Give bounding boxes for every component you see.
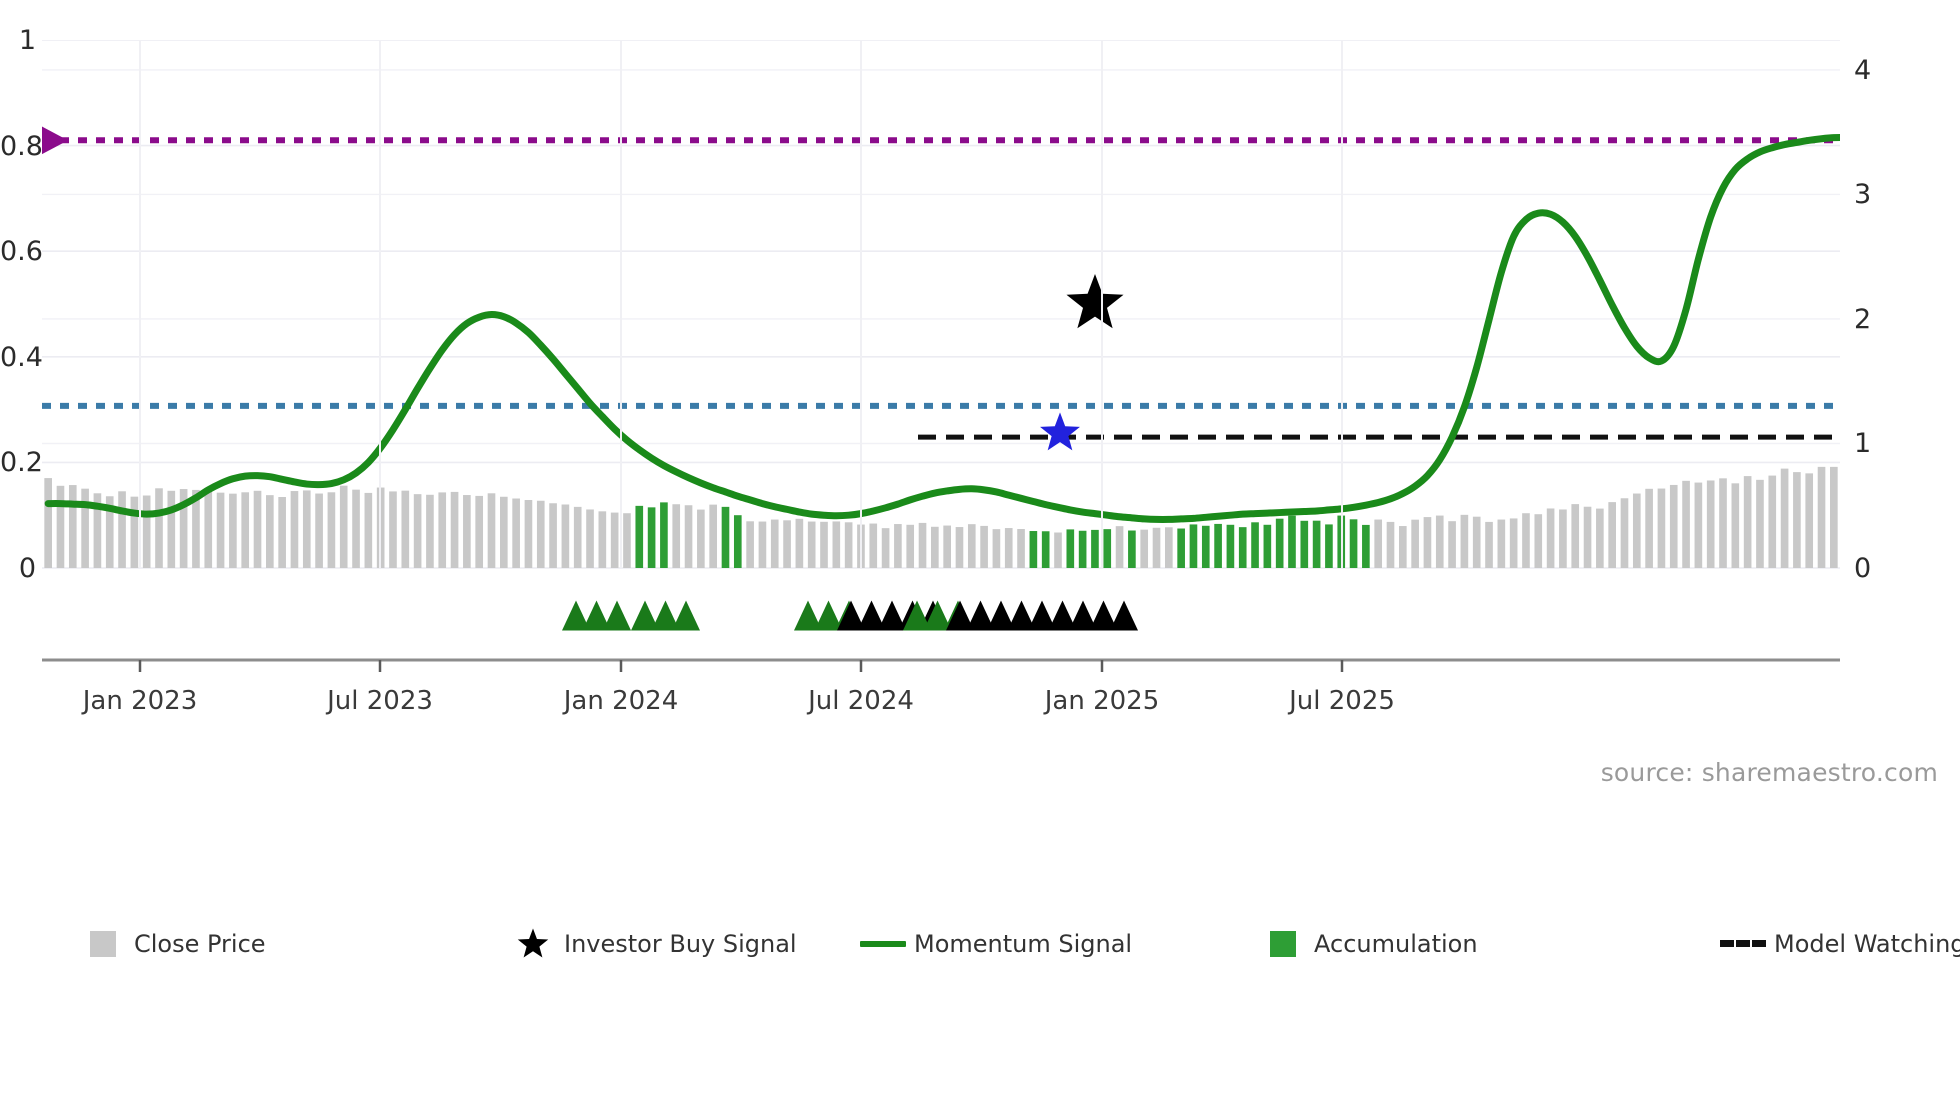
bar-accumulation <box>1313 521 1321 568</box>
bar-accumulation <box>1128 531 1136 568</box>
bar-accumulation <box>1300 521 1308 568</box>
bar-close-price <box>229 494 237 568</box>
legend-swatch-square <box>1270 931 1296 957</box>
bar-close-price <box>1473 517 1481 568</box>
legend-item-momentum-signal[interactable]: Momentum Signal <box>852 928 1252 959</box>
bar-close-price <box>919 523 927 568</box>
bar-close-price <box>968 524 976 568</box>
bar-accumulation <box>1030 531 1038 568</box>
legend-key-square <box>72 931 134 957</box>
bar-close-price <box>241 492 249 568</box>
bar-accumulation <box>1288 516 1296 568</box>
bar-close-price <box>352 490 360 568</box>
chart-root: { "source_note": "source: sharemaestro.c… <box>0 0 1960 1102</box>
legend-key-dash <box>1712 940 1774 947</box>
bar-close-price <box>463 495 471 568</box>
bar-close-price <box>1017 529 1025 568</box>
legend-item-label: Investor Buy Signal <box>564 930 797 958</box>
bar-close-price <box>1805 473 1813 568</box>
bar-close-price <box>217 493 225 568</box>
bar-close-price <box>1682 481 1690 568</box>
bar-close-price <box>1608 502 1616 568</box>
bar-accumulation <box>1362 525 1370 568</box>
bar-close-price <box>746 521 754 568</box>
bar-close-price <box>1596 509 1604 568</box>
legend-swatch-dashed <box>1720 940 1766 947</box>
bar-close-price <box>537 501 545 568</box>
bar-close-price <box>155 488 163 568</box>
smart-money-buy-signal-marker <box>1040 412 1080 450</box>
bar-close-price <box>599 511 607 568</box>
bar-accumulation <box>648 507 656 568</box>
bar-close-price <box>1830 467 1838 568</box>
bar-close-price <box>1510 518 1518 568</box>
bar-close-price <box>475 496 483 568</box>
bar-close-price <box>1732 483 1740 568</box>
bar-close-price <box>1670 485 1678 568</box>
bar-close-price <box>426 495 434 568</box>
demand-threshold-marker <box>42 122 68 158</box>
bar-close-price <box>266 495 274 568</box>
bar-close-price <box>574 507 582 568</box>
bar-close-price <box>1744 476 1752 568</box>
y-axis-right-tick: 4 <box>1854 55 1894 86</box>
bar-accumulation <box>1177 529 1185 568</box>
bar-close-price <box>488 493 496 568</box>
bar-close-price <box>438 492 446 568</box>
bar-close-price <box>808 522 816 568</box>
y-axis-right-tick: 3 <box>1854 179 1894 210</box>
bar-accumulation <box>1214 524 1222 568</box>
bar-close-price <box>143 496 151 568</box>
bar-accumulation <box>1264 525 1272 568</box>
bar-close-price <box>1399 526 1407 568</box>
bar-close-price <box>1559 509 1567 568</box>
source-note: source: sharemaestro.com <box>1601 758 1938 787</box>
bar-close-price <box>1116 526 1124 568</box>
bar-close-price <box>500 497 508 568</box>
bar-close-price <box>414 494 422 568</box>
bar-close-price <box>562 504 570 568</box>
bar-close-price <box>1461 515 1469 568</box>
bar-close-price <box>401 491 409 568</box>
bar-close-price <box>69 485 77 568</box>
y-axis-left-tick: 1 <box>0 25 36 56</box>
legend-key-line <box>852 941 914 947</box>
bar-close-price <box>44 478 52 568</box>
legend-item-accumulation[interactable]: Accumulation <box>1252 928 1712 959</box>
bar-close-price <box>1140 530 1148 568</box>
bar-close-price <box>1534 514 1542 568</box>
bar-accumulation <box>1202 526 1210 568</box>
bar-accumulation <box>722 507 730 568</box>
bar-close-price <box>1768 476 1776 568</box>
bar-close-price <box>315 494 323 568</box>
bar-close-price <box>993 529 1001 568</box>
bar-accumulation <box>660 502 668 568</box>
bar-close-price <box>820 522 828 568</box>
chart-legend: Close PriceInvestor Buy SignalMomentum S… <box>72 928 1932 959</box>
reference-lines <box>42 122 1840 437</box>
bar-accumulation <box>1251 522 1259 568</box>
legend-item-label: Momentum Signal <box>914 930 1132 958</box>
bar-close-price <box>303 490 311 568</box>
bar-close-price <box>131 497 139 568</box>
y-axis-right-tick: 1 <box>1854 428 1894 459</box>
bar-close-price <box>1054 533 1062 568</box>
bar-close-price <box>1645 489 1653 568</box>
bar-close-price <box>1719 478 1727 568</box>
legend-item-label: Accumulation <box>1314 930 1478 958</box>
bar-accumulation <box>1350 519 1358 568</box>
y-axis-left-tick: 0 <box>0 553 36 584</box>
y-axis-left-tick: 0.8 <box>0 131 36 162</box>
legend-item-label: Close Price <box>134 930 266 958</box>
bar-close-price <box>882 528 890 568</box>
bar-close-price <box>1424 517 1432 568</box>
bar-close-price <box>943 526 951 568</box>
bar-close-price <box>167 491 175 568</box>
bar-accumulation <box>1066 529 1074 568</box>
bar-close-price <box>328 492 336 568</box>
y-axis-left-tick: 0.6 <box>0 236 36 267</box>
bar-close-price <box>1756 480 1764 568</box>
bar-accumulation <box>1190 524 1198 568</box>
bar-close-price <box>204 488 212 568</box>
bar-close-price <box>771 520 779 568</box>
bar-close-price <box>57 486 65 568</box>
plot-area <box>42 40 1840 712</box>
bar-close-price <box>1621 498 1629 568</box>
bar-accumulation <box>1091 530 1099 568</box>
legend-item-label: Model Watching <box>1774 930 1960 958</box>
bar-close-price <box>549 503 557 568</box>
momentum-signal-path <box>48 115 1840 520</box>
bar-close-price <box>623 513 631 568</box>
bar-close-price <box>611 513 619 568</box>
bar-close-price <box>833 521 841 568</box>
bar-close-price <box>906 525 914 568</box>
bar-close-price <box>1165 527 1173 568</box>
bar-close-price <box>1571 504 1579 568</box>
y-axis-right-tick: 0 <box>1854 553 1894 584</box>
legend-item-model-watching[interactable]: Model Watching <box>1712 928 1960 959</box>
bar-close-price <box>586 509 594 568</box>
legend-star-icon <box>516 927 550 961</box>
accumulation-triangle <box>672 601 700 631</box>
momentum-signal-line <box>48 115 1840 520</box>
bar-close-price <box>340 486 348 568</box>
bar-close-price <box>845 522 853 568</box>
bar-accumulation <box>1239 527 1247 568</box>
bar-close-price <box>1818 467 1826 568</box>
legend-swatch-line <box>860 941 906 947</box>
accumulation-triangles <box>562 601 1138 631</box>
bar-close-price <box>931 527 939 568</box>
accumulation-triangle <box>603 601 631 631</box>
bar-close-price <box>1522 513 1530 568</box>
y-axis-left-tick: 0.4 <box>0 342 36 373</box>
y-axis-right-tick: 2 <box>1854 304 1894 335</box>
bar-close-price <box>709 505 717 568</box>
bar-close-price <box>525 500 533 568</box>
bar-close-price <box>783 520 791 568</box>
bar-close-price <box>1153 528 1161 568</box>
bar-accumulation <box>1325 524 1333 568</box>
bar-close-price <box>980 526 988 568</box>
bar-close-price <box>685 505 693 568</box>
bar-accumulation <box>635 506 643 568</box>
bar-close-price <box>118 491 126 568</box>
legend-key-star <box>502 927 564 961</box>
bar-close-price <box>1547 508 1555 568</box>
bar-close-price <box>365 493 373 568</box>
chart-canvas <box>42 40 1840 712</box>
bar-close-price <box>1633 494 1641 568</box>
bar-accumulation <box>734 515 742 568</box>
bar-close-price <box>389 491 397 568</box>
bar-close-price <box>291 491 299 568</box>
bar-close-price <box>278 497 286 568</box>
bar-close-price <box>512 499 520 568</box>
bar-close-price <box>1793 472 1801 568</box>
bar-close-price <box>1781 469 1789 568</box>
bar-accumulation <box>1103 529 1111 568</box>
bar-accumulation <box>1042 531 1050 568</box>
bar-accumulation <box>1079 531 1087 568</box>
bar-close-price <box>1436 516 1444 568</box>
y-axis-left-tick: 0.2 <box>0 447 36 478</box>
bar-close-price <box>81 489 89 568</box>
accumulation-triangle <box>1110 601 1138 631</box>
investor-buy-signal-marker <box>1066 274 1123 328</box>
bar-close-price <box>1584 507 1592 568</box>
bar-close-price <box>956 527 964 568</box>
signal-markers <box>1040 274 1124 450</box>
bar-close-price <box>869 524 877 568</box>
bar-close-price <box>1387 522 1395 568</box>
bar-close-price <box>697 510 705 568</box>
bar-accumulation <box>1276 519 1284 568</box>
bar-close-price <box>672 504 680 568</box>
bar-close-price <box>796 519 804 568</box>
bar-close-price <box>894 524 902 568</box>
legend-item-investor-buy-signal[interactable]: Investor Buy Signal <box>502 928 852 959</box>
bar-close-price <box>1374 520 1382 568</box>
bar-close-price <box>451 492 459 568</box>
bar-close-price <box>1658 489 1666 568</box>
bar-close-price <box>254 491 262 568</box>
bar-close-price <box>1695 483 1703 568</box>
bar-close-price <box>1707 480 1715 568</box>
legend-item-close-price[interactable]: Close Price <box>72 928 502 959</box>
bar-close-price <box>1005 528 1013 568</box>
bar-close-price <box>1448 521 1456 568</box>
bar-close-price <box>1411 520 1419 568</box>
bar-accumulation <box>1227 525 1235 568</box>
legend-key-square <box>1252 931 1314 957</box>
bar-close-price <box>759 522 767 568</box>
bar-close-price <box>1498 520 1506 568</box>
bar-close-price <box>1485 522 1493 568</box>
legend-swatch-square <box>90 931 116 957</box>
